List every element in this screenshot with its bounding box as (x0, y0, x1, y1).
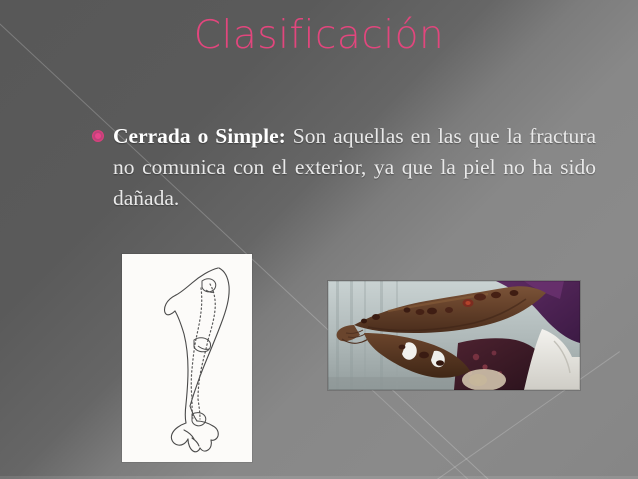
slide-canvas: Clasificación Cerrada o Simple: Son aque… (0, 0, 638, 479)
bullet-paragraph: Cerrada o Simple: Son aquellas en las qu… (113, 121, 596, 214)
arm-drawing-graphic (122, 254, 252, 462)
bullet-point-icon (92, 130, 104, 142)
diagonal-accent-line-primary (0, 14, 638, 479)
body-content: Cerrada o Simple: Son aquellas en las qu… (92, 121, 596, 214)
list-item: Cerrada o Simple: Son aquellas en las qu… (92, 121, 596, 214)
injured-arm-photograph (328, 281, 580, 390)
bullet-term-label: Cerrada o Simple: (113, 124, 286, 148)
injured-arm-photo-graphic (328, 281, 580, 390)
arm-bone-line-drawing (122, 254, 252, 462)
slide-title: Clasificación (0, 14, 638, 59)
